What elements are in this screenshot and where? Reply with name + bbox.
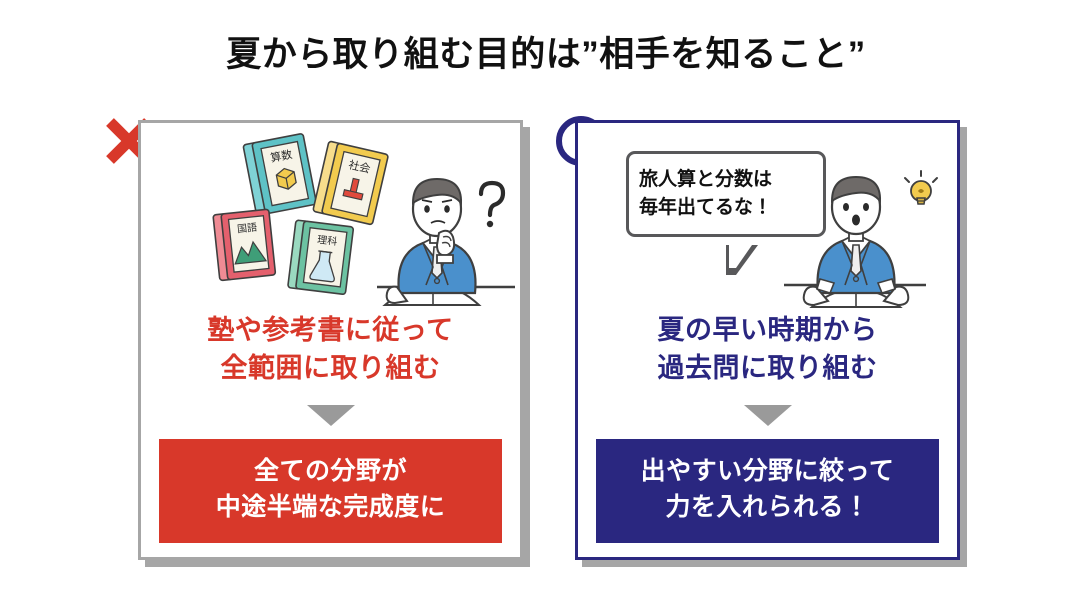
panel-good-result: 出やすい分野に絞って 力を入れられる！ (596, 439, 939, 543)
speech-bubble-tail (726, 245, 758, 275)
panel-good-approach: 旅人算と分数は 毎年出てるな！ (575, 120, 960, 560)
result-line-1: 全ての分野が (254, 457, 407, 485)
headline-line-1: 塾や参考書に従って (207, 315, 453, 345)
circle-mark-label: ○ (610, 112, 611, 113)
result-line-2: 中途半端な完成度に (216, 493, 446, 521)
panel-good-headline: 夏の早い時期から 過去問に取り組む (578, 311, 957, 388)
cross-mark-label: × (158, 112, 159, 113)
panel-bad-result: 全ての分野が 中途半端な完成度に (159, 439, 502, 543)
result-line-2: 力を入れられる！ (665, 493, 869, 521)
result-line-1: 出やすい分野に絞って (641, 457, 895, 485)
down-arrow-icon (744, 405, 792, 426)
svg-text:国語: 国語 (237, 221, 258, 235)
headline-line-1: 夏の早い時期から (658, 315, 878, 345)
confused-student-illustration: 算数 社会 (141, 123, 520, 313)
speech-bubble-line-1: 旅人算と分数は (639, 166, 813, 194)
panel-bad-approach: 算数 社会 (138, 120, 523, 560)
speech-bubble-line-2: 毎年出てるな！ (639, 194, 813, 222)
insightful-student-illustration: 旅人算と分数は 毎年出てるな！ (578, 123, 957, 313)
page-title: 夏から取り組む目的は”相手を知ること” (0, 26, 1092, 77)
speech-bubble: 旅人算と分数は 毎年出てるな！ (626, 151, 826, 237)
down-arrow-icon (307, 405, 355, 426)
panel-bad-headline: 塾や参考書に従って 全範囲に取り組む (141, 311, 520, 388)
headline-line-2: 過去問に取り組む (658, 353, 878, 383)
headline-line-2: 全範囲に取り組む (221, 353, 441, 383)
